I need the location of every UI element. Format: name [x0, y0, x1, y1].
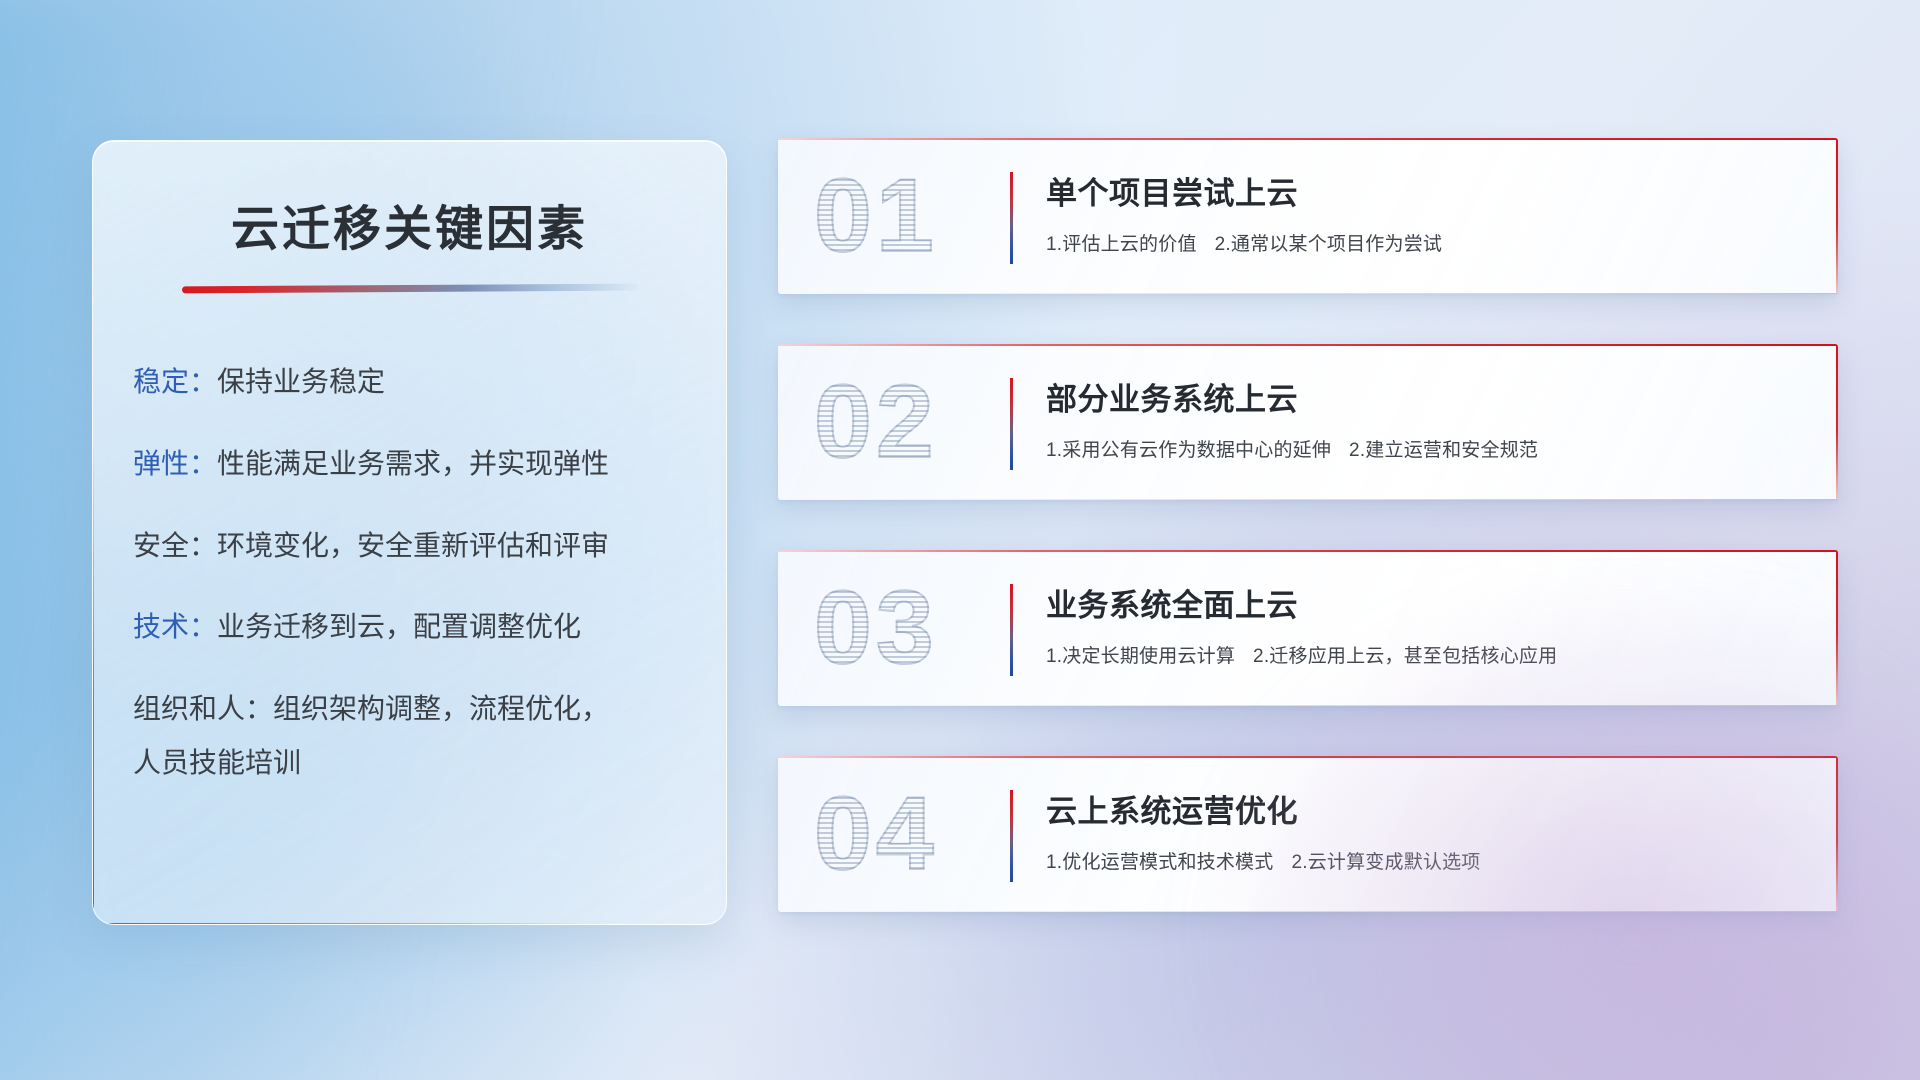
list-item: 组织和人：组织架构调整，流程优化，	[133, 691, 726, 727]
card-point: 1.决定长期使用云计算	[1046, 646, 1235, 667]
card-point: 2.迁移应用上云，甚至包括核心应用	[1253, 646, 1557, 667]
stage-card-02[interactable]: 02 部分业务系统上云 1.采用公有云作为数据中心的延伸2.建立运营和安全规范	[778, 344, 1838, 500]
card-top-accent-rule	[778, 550, 1838, 552]
card-title: 部分业务系统上云	[1046, 374, 1810, 419]
stage-number-01: 01	[814, 164, 938, 268]
card-bottom-edge	[778, 705, 1838, 706]
panel-red-bottom-edge	[93, 923, 587, 924]
list-item: 弹性：性能满足业务需求，并实现弹性	[133, 446, 726, 482]
card-description: 1.评估上云的价值2.通常以某个项目作为尝试	[1046, 229, 1810, 256]
migration-stage-cards: 01 单个项目尝试上云 1.评估上云的价值2.通常以某个项目作为尝试 02 部分…	[778, 138, 1838, 962]
card-description: 1.采用公有云作为数据中心的延伸2.建立运营和安全规范	[1046, 435, 1810, 462]
card-body: 部分业务系统上云 1.采用公有云作为数据中心的延伸2.建立运营和安全规范	[1046, 374, 1810, 462]
factor-label: 组织和人：	[133, 693, 273, 724]
stage-number-04: 04	[814, 782, 938, 886]
factor-desc: 业务迁移到云，配置调整优化	[217, 611, 581, 642]
card-bottom-edge	[778, 293, 1838, 294]
factor-desc: 性能满足业务需求，并实现弹性	[217, 448, 609, 479]
card-right-accent-rule	[1836, 756, 1838, 912]
card-point: 2.云计算变成默认选项	[1291, 852, 1480, 873]
card-accent-bar	[1010, 790, 1013, 882]
card-top-accent-rule	[778, 344, 1838, 346]
card-point: 1.优化运营模式和技术模式	[1046, 852, 1273, 873]
card-body: 业务系统全面上云 1.决定长期使用云计算2.迁移应用上云，甚至包括核心应用	[1046, 580, 1810, 668]
card-top-accent-rule	[778, 756, 1838, 758]
card-right-accent-rule	[1836, 344, 1838, 500]
card-title: 云上系统运营优化	[1046, 786, 1810, 831]
stage-card-01[interactable]: 01 单个项目尝试上云 1.评估上云的价值2.通常以某个项目作为尝试	[778, 138, 1838, 294]
list-item-continuation: 人员技能培训	[133, 745, 726, 781]
stage-number-02: 02	[814, 370, 938, 474]
slide-canvas: 云迁移关键因素 稳定：保持业务稳定 弹性：性能满足业务需求，并实现弹性 安全：环…	[0, 0, 1920, 1080]
card-top-accent-rule	[778, 138, 1838, 140]
factor-desc: 环境变化，安全重新评估和评审	[217, 530, 609, 561]
factor-desc: 组织架构调整，流程优化，	[273, 693, 609, 724]
key-factors-panel: 云迁移关键因素 稳定：保持业务稳定 弹性：性能满足业务需求，并实现弹性 安全：环…	[92, 140, 727, 925]
card-description: 1.决定长期使用云计算2.迁移应用上云，甚至包括核心应用	[1046, 641, 1810, 668]
factor-label: 稳定：	[133, 366, 217, 397]
panel-red-left-edge	[93, 439, 94, 924]
card-right-accent-rule	[1836, 550, 1838, 706]
stage-card-04[interactable]: 04 云上系统运营优化 1.优化运营模式和技术模式2.云计算变成默认选项	[778, 756, 1838, 912]
card-body: 云上系统运营优化 1.优化运营模式和技术模式2.云计算变成默认选项	[1046, 786, 1810, 874]
card-title: 业务系统全面上云	[1046, 580, 1810, 625]
card-bottom-edge	[778, 911, 1838, 912]
card-point: 2.建立运营和安全规范	[1349, 440, 1538, 461]
card-point: 1.评估上云的价值	[1046, 234, 1197, 255]
list-item: 技术：业务迁移到云，配置调整优化	[133, 609, 726, 645]
card-point: 1.采用公有云作为数据中心的延伸	[1046, 440, 1331, 461]
factor-desc: 保持业务稳定	[217, 366, 385, 397]
card-right-accent-rule	[1836, 138, 1838, 294]
list-item: 稳定：保持业务稳定	[133, 364, 726, 400]
card-point: 2.通常以某个项目作为尝试	[1215, 234, 1442, 255]
factor-desc: 人员技能培训	[133, 747, 301, 778]
card-title: 单个项目尝试上云	[1046, 168, 1810, 213]
list-item: 安全：环境变化，安全重新评估和评审	[133, 528, 726, 564]
key-factor-list: 稳定：保持业务稳定 弹性：性能满足业务需求，并实现弹性 安全：环境变化，安全重新…	[93, 292, 726, 781]
card-description: 1.优化运营模式和技术模式2.云计算变成默认选项	[1046, 847, 1810, 874]
stage-number-03: 03	[814, 576, 938, 680]
stage-card-03[interactable]: 03 业务系统全面上云 1.决定长期使用云计算2.迁移应用上云，甚至包括核心应用	[778, 550, 1838, 706]
page-title: 云迁移关键因素	[93, 141, 726, 259]
factor-label: 技术：	[133, 611, 217, 642]
card-accent-bar	[1010, 584, 1013, 676]
card-accent-bar	[1010, 172, 1013, 264]
card-body: 单个项目尝试上云 1.评估上云的价值2.通常以某个项目作为尝试	[1046, 168, 1810, 256]
card-accent-bar	[1010, 378, 1013, 470]
card-bottom-edge	[778, 499, 1838, 500]
factor-label: 安全：	[133, 530, 217, 561]
factor-label: 弹性：	[133, 448, 217, 479]
